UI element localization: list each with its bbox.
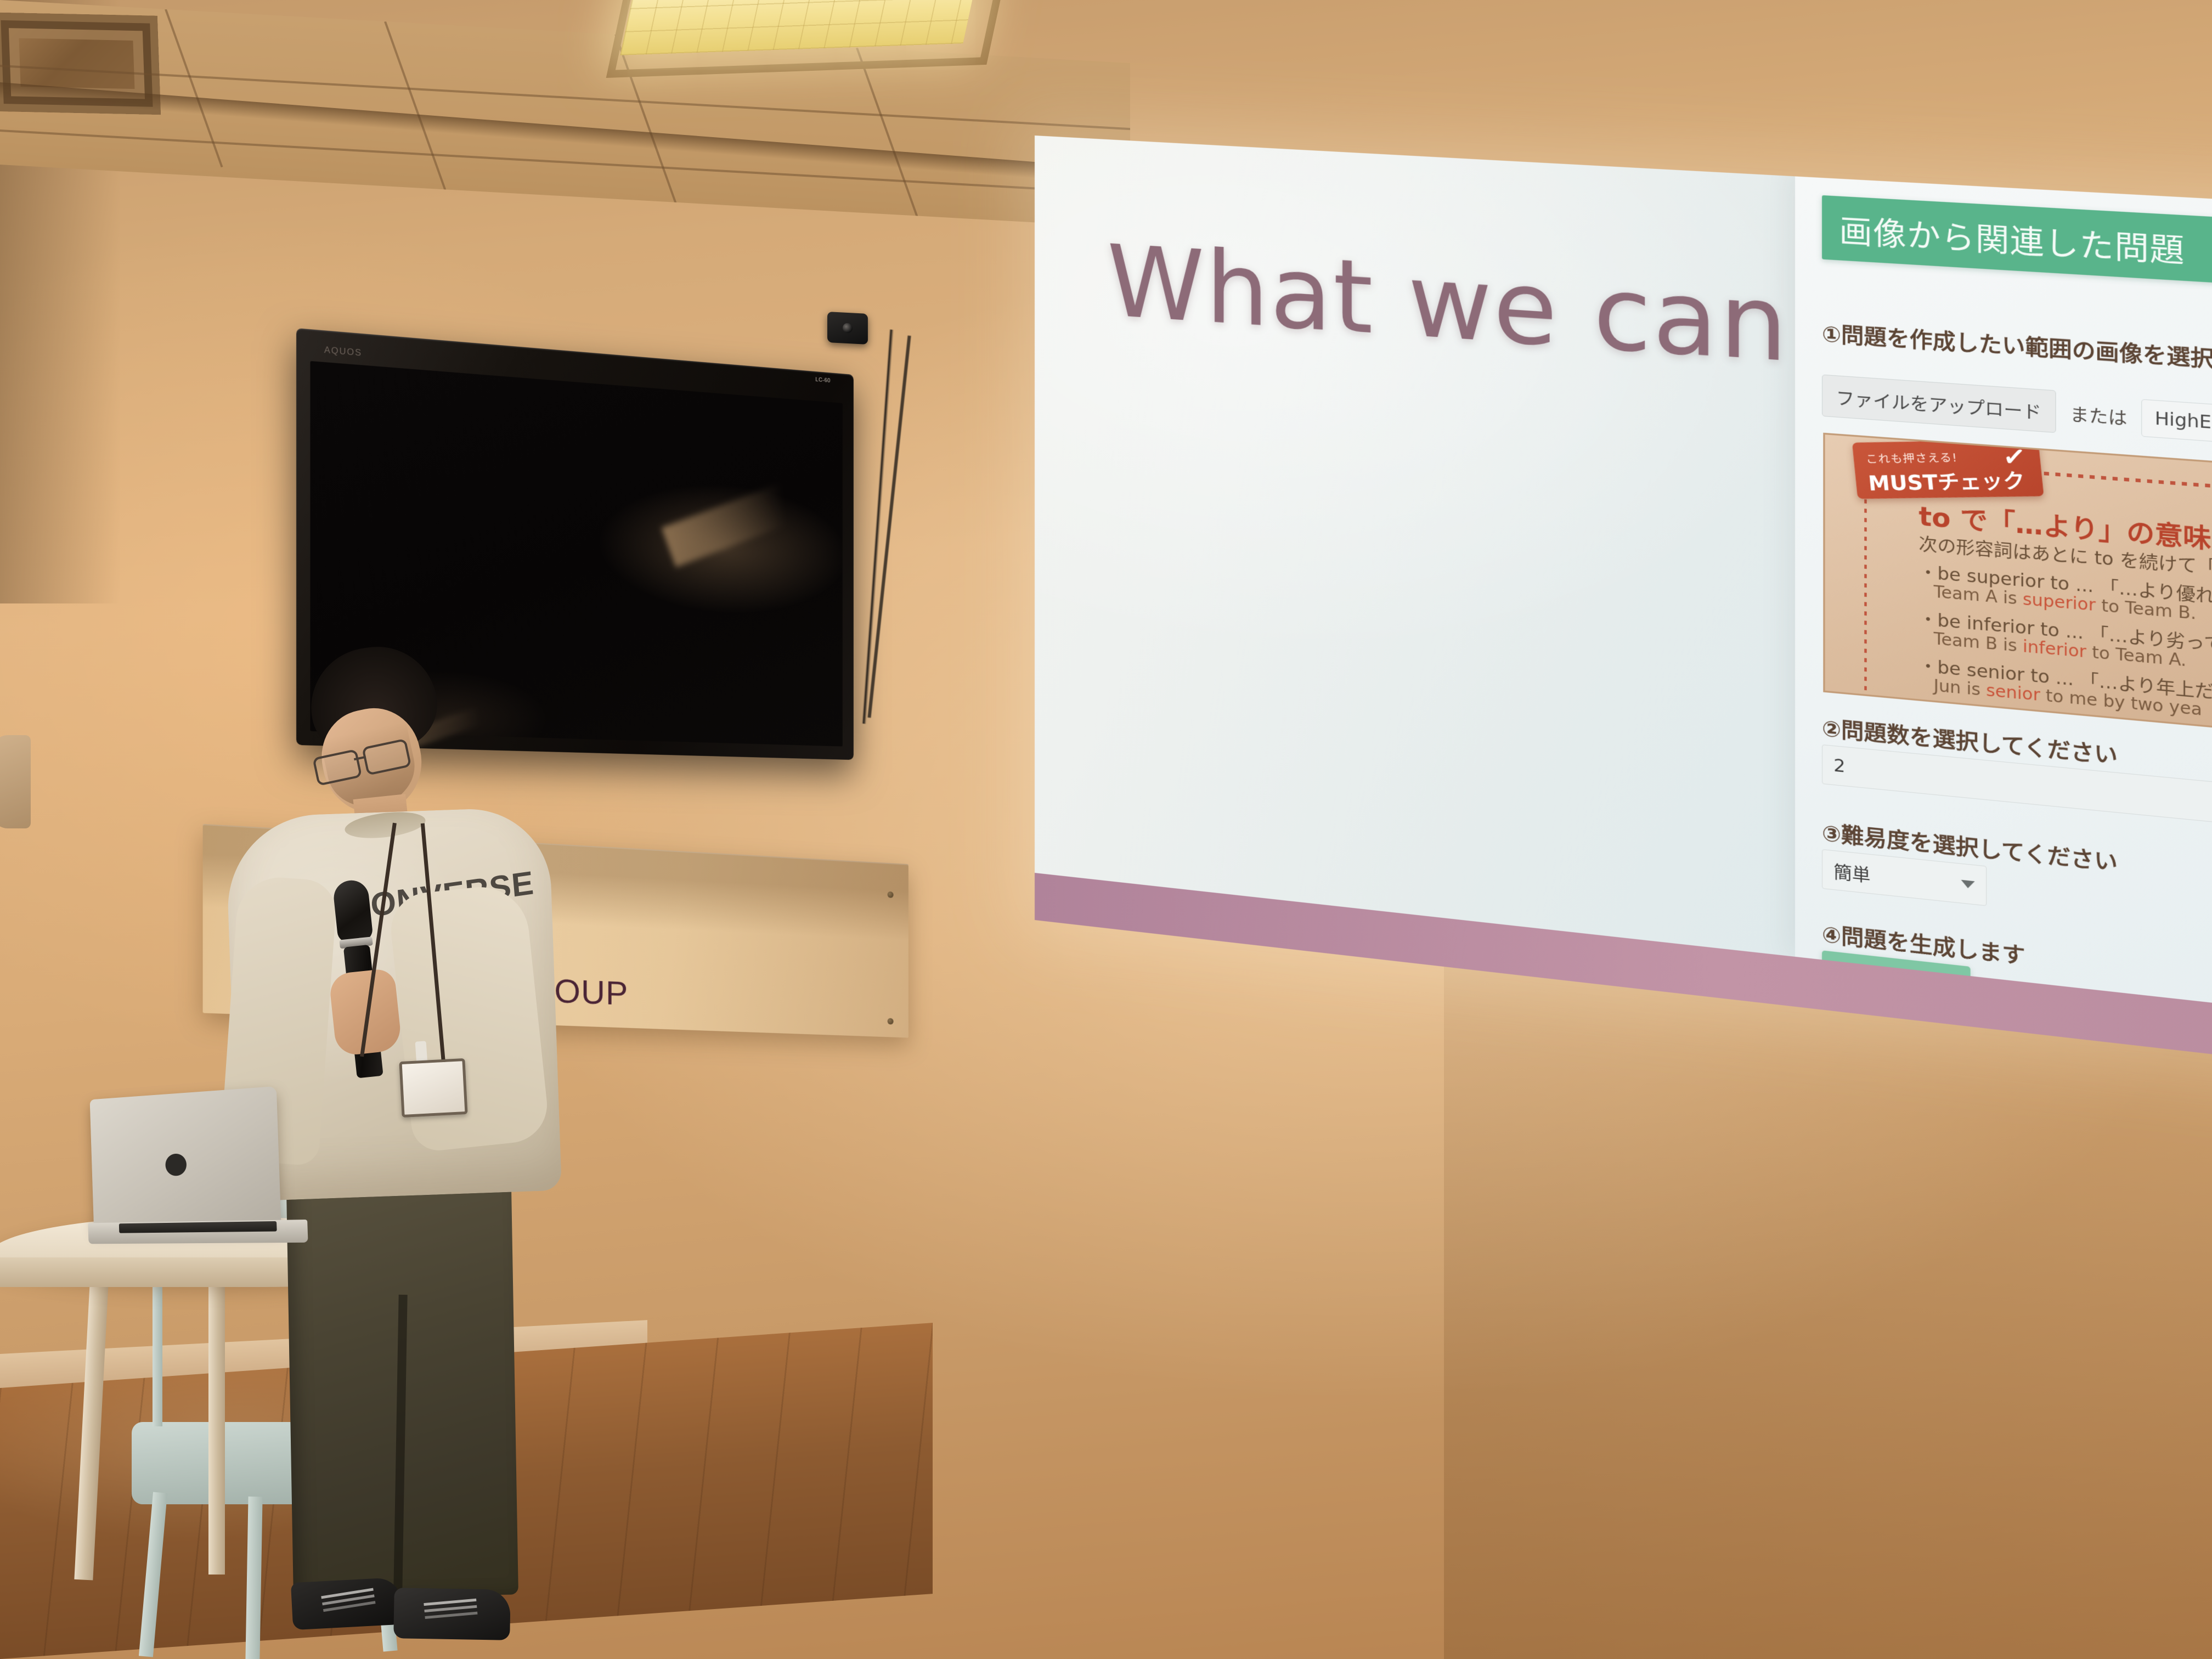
example-highlight: senior bbox=[1986, 680, 2040, 704]
must-check-badge: これも押さえる! MUSTチェック ✓ bbox=[1852, 439, 2044, 499]
app-screenshot: 画像から関連した問題 ①問題を作成したい範囲の画像を選択 ファイルをアップロード… bbox=[1795, 168, 2212, 1029]
question-count-value: 2 bbox=[1833, 755, 1845, 777]
upload-file-button[interactable]: ファイルをアップロード bbox=[1822, 374, 2056, 433]
badge-line-1: これも押さえる! bbox=[1865, 449, 1958, 466]
laptop bbox=[90, 1084, 323, 1257]
app-header-bar: 画像から関連した問題 bbox=[1822, 195, 2212, 297]
shoe-stripe bbox=[424, 1599, 476, 1606]
ceiling-grid-line bbox=[384, 21, 446, 190]
mic-head bbox=[332, 879, 373, 944]
wall-object bbox=[0, 735, 31, 828]
textbook-preview-image: これも押さえる! MUSTチェック ✓ to で「…より」の意味を表す 次の形容… bbox=[1823, 433, 2212, 752]
app-header-title: 画像から関連した問題 bbox=[1822, 204, 2185, 272]
wall-right-shadow bbox=[1444, 933, 2212, 1659]
laptop-keyboard bbox=[119, 1221, 277, 1233]
apple-logo-icon bbox=[160, 1145, 191, 1183]
or-separator-label: または bbox=[2070, 399, 2127, 430]
sign-screw bbox=[888, 891, 894, 898]
laptop-lid bbox=[90, 1086, 281, 1231]
chevron-down-icon bbox=[1961, 879, 1975, 889]
decorative-dotted-line bbox=[2044, 472, 2212, 506]
ceiling-grid-line bbox=[856, 48, 918, 217]
photo-stage: AQUOS LC-60 GMO INTERNET GROUP What we c… bbox=[0, 0, 2212, 1659]
projected-slide: What we can do 画像から関連した問題 ①問題を作成したい範囲の画像… bbox=[1035, 136, 2212, 1069]
uploaded-file-name: HighEng.jpeg bbox=[2141, 399, 2212, 448]
checkmark-icon: ✓ bbox=[2002, 441, 2027, 473]
shoe-stripe bbox=[321, 1588, 374, 1599]
difficulty-value: 簡単 bbox=[1833, 857, 1870, 887]
ceiling-grid-line bbox=[165, 9, 223, 167]
presenter-shoe bbox=[291, 1577, 403, 1630]
webcam-icon bbox=[827, 312, 868, 345]
step1-label: ①問題を作成したい範囲の画像を選択 bbox=[1822, 316, 2212, 373]
example-pre: Jun is bbox=[1934, 676, 1987, 700]
decorative-dotted-line bbox=[1864, 490, 1866, 695]
screen-glare bbox=[661, 472, 825, 567]
tv-model-label: LC-60 bbox=[815, 376, 830, 383]
sign-screw bbox=[888, 1018, 894, 1025]
presenter-shoe bbox=[393, 1588, 511, 1640]
name-badge bbox=[399, 1058, 467, 1118]
